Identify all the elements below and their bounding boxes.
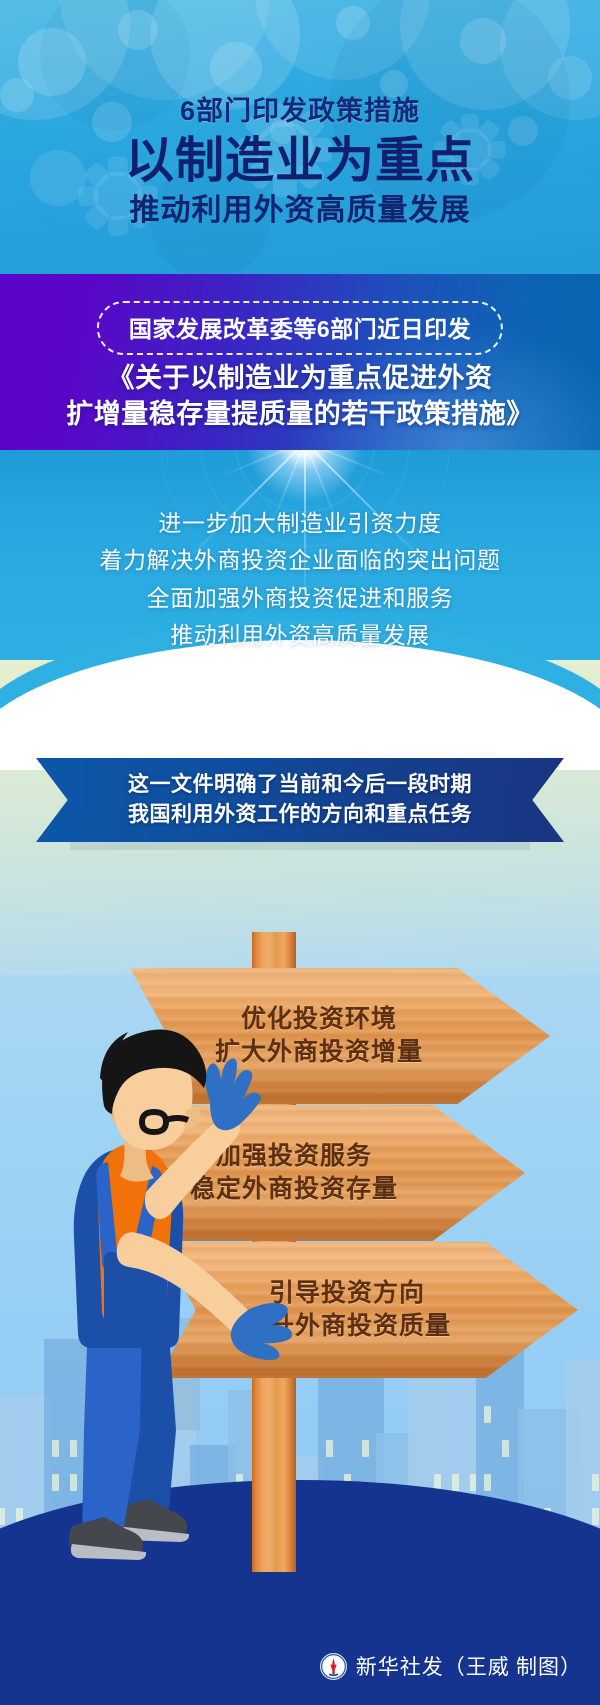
ribbon-banner: 这一文件明确了当前和今后一段时期 我国利用外资工作的方向和重点任务	[0, 758, 600, 850]
goals-section: 进一步加大制造业引资力度 着力解决外商投资企业面临的突出问题 全面加强外商投资促…	[0, 450, 600, 680]
xinhua-logo-icon	[320, 1653, 347, 1680]
hero-subline: 推动利用外资高质量发展	[0, 194, 600, 229]
worker-illustration	[0, 960, 600, 1580]
goals-text-block: 进一步加大制造业引资力度 着力解决外商投资企业面临的突出问题 全面加强外商投资促…	[0, 505, 600, 654]
hero-eyebrow: 6部门印发政策措施	[0, 97, 600, 127]
goal-line-3: 全面加强外商投资促进和服务	[0, 580, 600, 617]
ribbon-line-1: 这一文件明确了当前和今后一段时期	[128, 770, 472, 800]
ribbon-text-block: 这一文件明确了当前和今后一段时期 我国利用外资工作的方向和重点任务	[0, 758, 600, 842]
doc-title-line-1: 《关于以制造业为重点促进外资	[0, 360, 600, 396]
worker-glasses-bridge	[166, 1118, 188, 1120]
credit-text: 新华社发（王威 制图）	[356, 1651, 582, 1681]
hero-text-block: 6部门印发政策措施 以制造业为重点 推动利用外资高质量发展	[0, 0, 600, 229]
doc-title-line-2: 扩增量稳存量提质量的若干政策措施》	[0, 396, 600, 432]
hero-section: 6部门印发政策措施 以制造业为重点 推动利用外资高质量发展	[0, 0, 600, 274]
worker-glove-upper	[205, 1058, 260, 1130]
goal-line-1: 进一步加大制造业引资力度	[0, 505, 600, 542]
document-title: 《关于以制造业为重点促进外资 扩增量稳存量提质量的若干政策措施》	[0, 360, 600, 433]
ribbon-line-2: 我国利用外资工作的方向和重点任务	[128, 800, 472, 830]
footer-credit: 新华社发（王威 制图）	[320, 1651, 582, 1681]
hero-headline: 以制造业为重点	[0, 133, 600, 189]
issuer-pill-label: 国家发展改革委等6部门近日印发	[129, 316, 471, 342]
goal-line-4: 推动利用外资高质量发展	[0, 617, 600, 654]
issuer-pill: 国家发展改革委等6部门近日印发	[97, 301, 503, 355]
infographic-page: 6部门印发政策措施 以制造业为重点 推动利用外资高质量发展 国家发展改革委等6部…	[0, 0, 600, 1705]
goal-line-2: 着力解决外商投资企业面临的突出问题	[0, 542, 600, 579]
document-section: 国家发展改革委等6部门近日印发 《关于以制造业为重点促进外资 扩增量稳存量提质量…	[0, 274, 600, 450]
